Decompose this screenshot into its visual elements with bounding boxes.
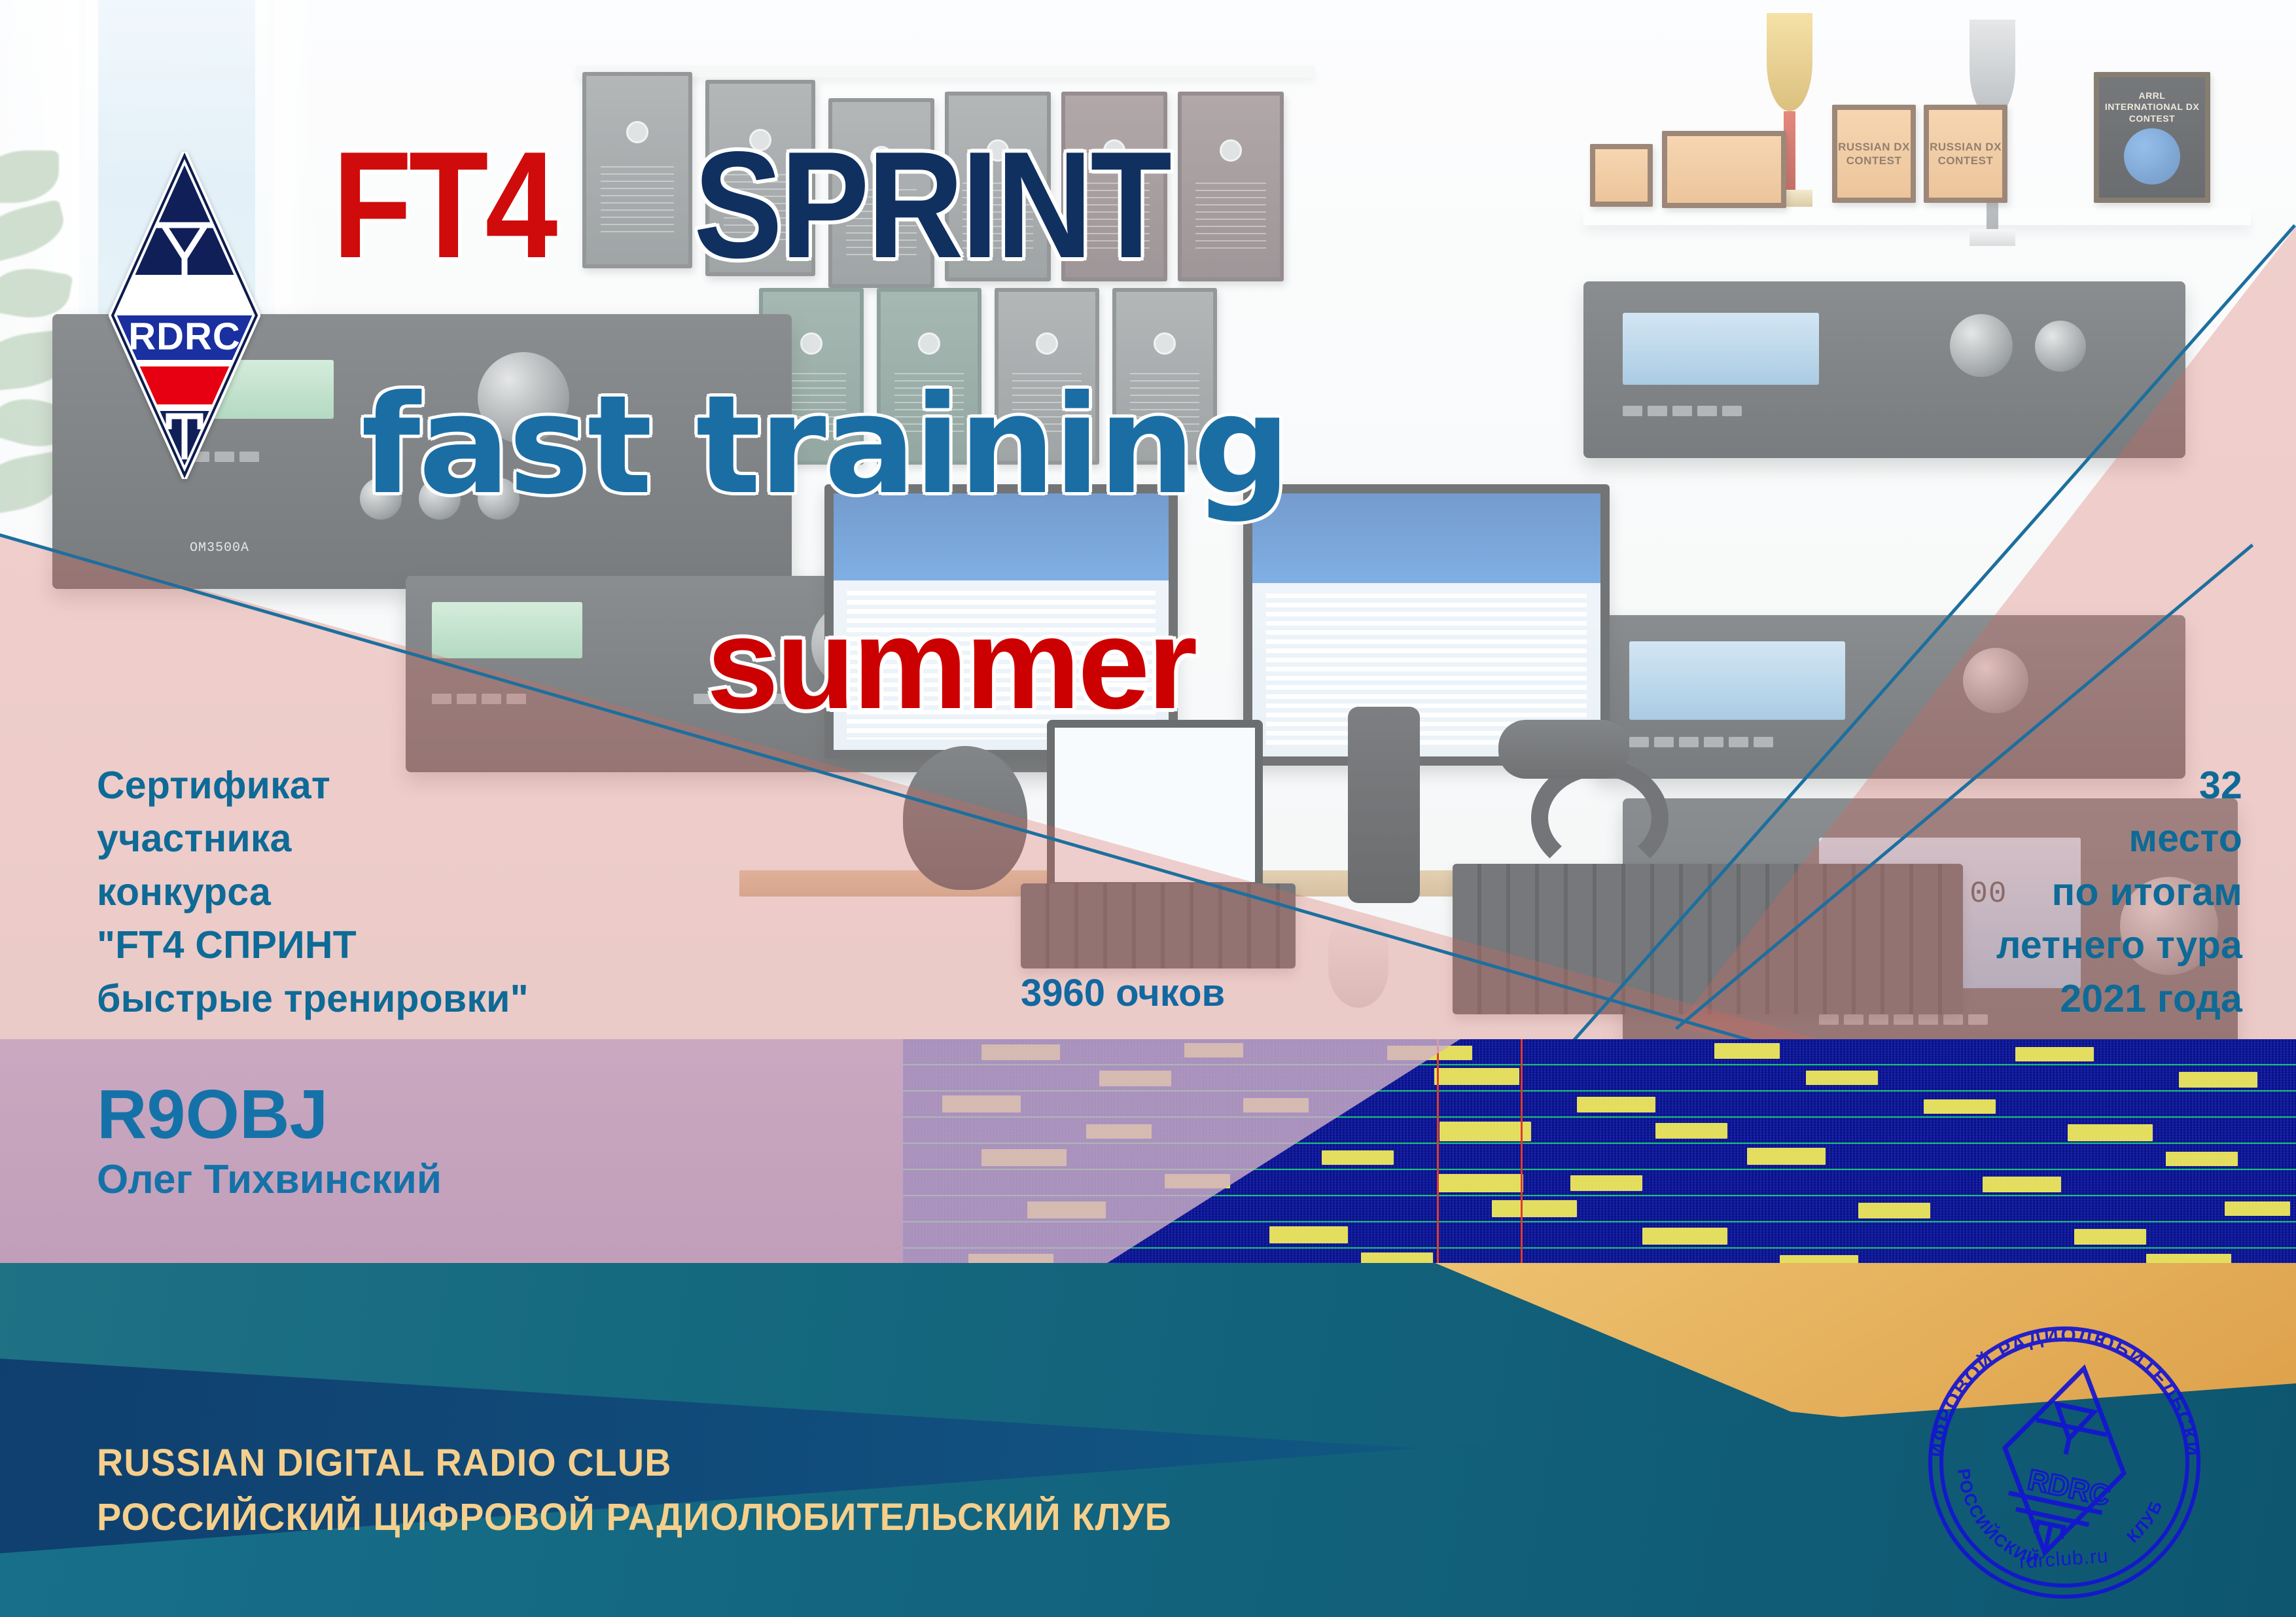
subtitle-fast-training: fast training [361,366,1289,525]
rdrc-round-stamp: ЦИФРОВОЙ РАДИОЛЮБИТЕЛЬСКИЙ РОССИЙСКИЙ КЛ… [1917,1315,2212,1610]
title-block: FT4 SPRINT fast training summer [0,0,2296,720]
title-ft4: FT4 [332,118,554,293]
desc-line-1: Сертификат [97,759,529,812]
place-word: место [1996,812,2242,865]
desc-line-4: "FT4 СПРИНТ [97,919,529,972]
footer-club-name-ru: РОССИЙСКИЙ ЦИФРОВОЙ РАДИОЛЮБИТЕЛЬСКИЙ КЛ… [97,1495,1172,1539]
title-sprint: SPRINT [694,118,1170,293]
desc-line-2: участника [97,812,529,865]
certificate-canvas: RUSSIAN DX CONTEST RUSSIAN DX CONTEST AR… [0,0,2296,1617]
desc-line-5: быстрые тренировки" [97,972,529,1025]
subtitle-summer: summer [707,589,1195,737]
place-line-4: летнего тура [1996,919,2242,972]
callsign: R9OBJ [97,1067,328,1162]
place-line-3: по итогам [1996,866,2242,919]
certificate-description: Сертификат участника конкурса "FT4 СПРИН… [97,759,529,1025]
place-number: 32 [1996,759,2242,812]
place-line-5: 2021 года [1996,972,2242,1025]
placement-block: 32 место по итогам летнего тура 2021 год… [1996,759,2242,1025]
stamp-arc-top-text: ЦИФРОВОЙ РАДИОЛЮБИТЕЛЬСКИЙ [1917,1315,2202,1459]
operator-name: Олег Тихвинский [97,1152,442,1208]
desc-line-3: конкурса [97,866,529,919]
footer-club-name-en: RUSSIAN DIGITAL RADIO CLUB [97,1441,672,1485]
score-text: 3960 очков [1021,967,1225,1020]
